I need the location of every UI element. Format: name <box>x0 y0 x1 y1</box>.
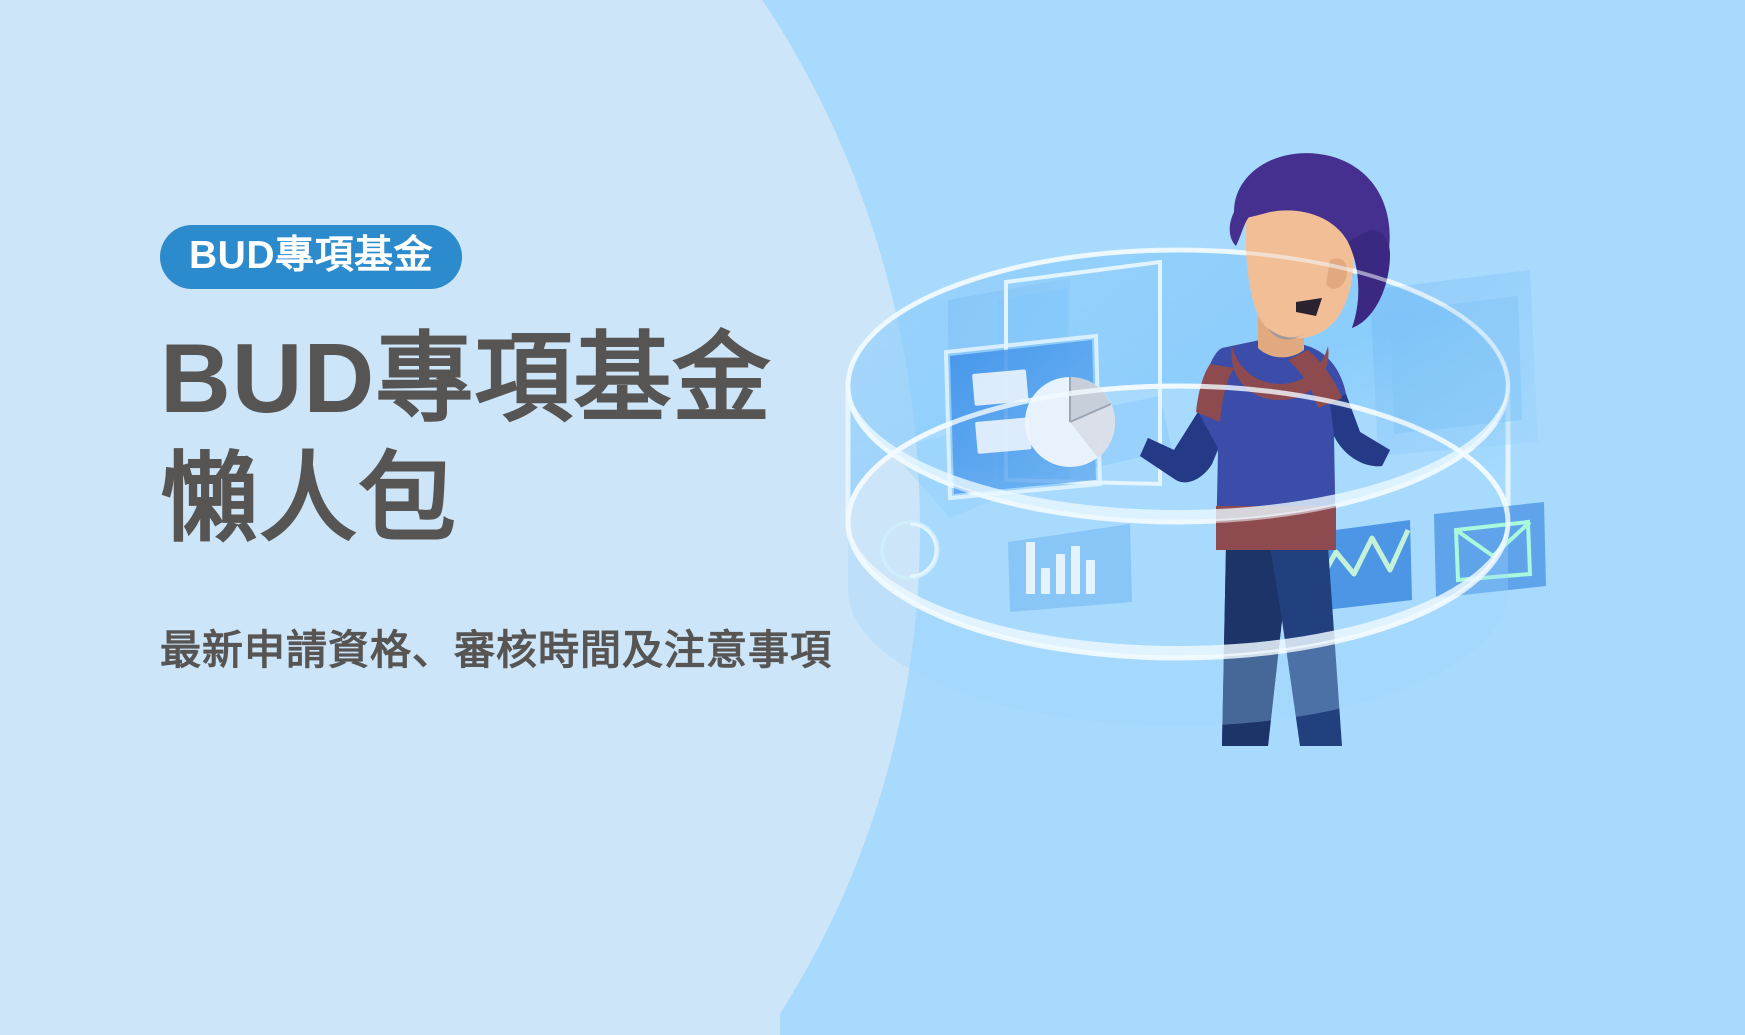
headline-line-2: 懶人包 <box>160 439 920 559</box>
fund-badge: BUD專項基金 <box>160 225 462 289</box>
bud-fund-banner: BUD專項基金 BUD專項基金 懶人包 最新申請資格、審核時間及注意事項 <box>0 0 1745 1035</box>
envelope-icon <box>1434 502 1546 598</box>
page-title: BUD專項基金 懶人包 <box>160 319 920 558</box>
headline-line-1: BUD專項基金 <box>160 319 920 439</box>
bar-chart-icon <box>1008 524 1132 612</box>
banner-text-column: BUD專項基金 BUD專項基金 懶人包 最新申請資格、審核時間及注意事項 <box>160 225 920 677</box>
pie-chart-panel <box>946 336 1115 498</box>
page-subtitle: 最新申請資格、審核時間及注意事項 <box>160 624 920 677</box>
pie-chart-icon <box>1025 377 1115 467</box>
hologram-illustration <box>830 150 1745 760</box>
